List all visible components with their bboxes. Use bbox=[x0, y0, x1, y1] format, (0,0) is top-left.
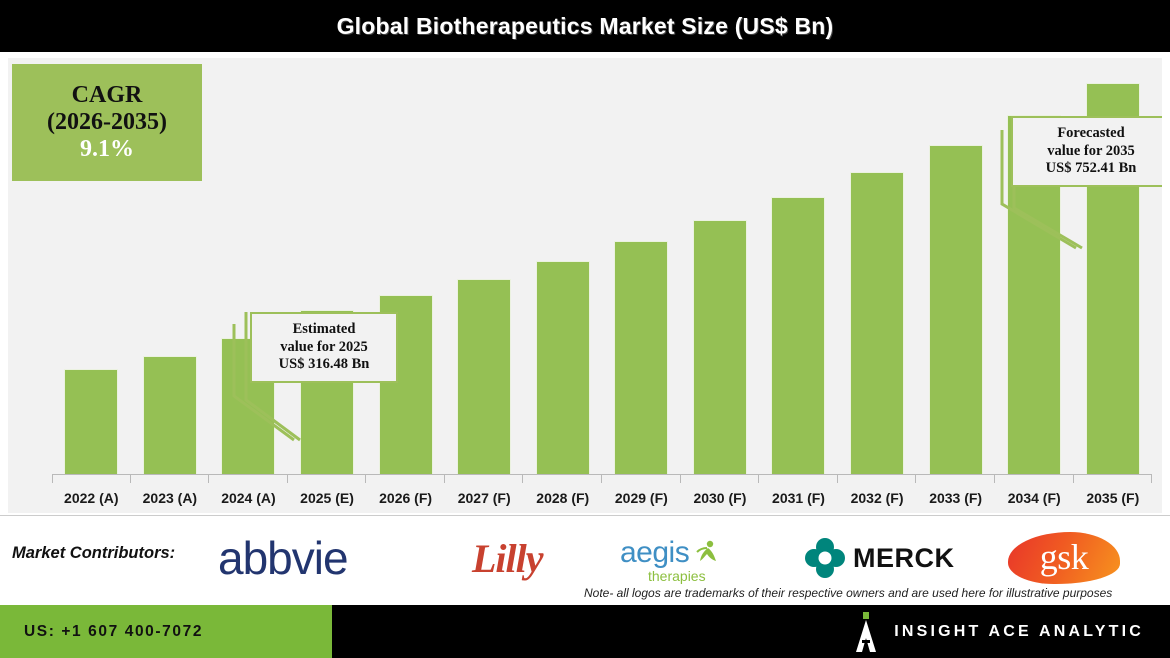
abbvie-logo-text: abbvie bbox=[218, 531, 348, 585]
x-axis-label: 2035 (F) bbox=[1074, 490, 1153, 506]
forecasted-value-callout: Forecasted value for 2035 US$ 752.41 Bn bbox=[1011, 116, 1162, 187]
estimated-callout-line1: Estimated bbox=[261, 321, 387, 339]
infographic-page: Global Biotherapeutics Market Size (US$ … bbox=[0, 0, 1170, 658]
x-axis-tick bbox=[288, 475, 367, 483]
bar-slot bbox=[838, 58, 917, 475]
x-axis-tick bbox=[916, 475, 995, 483]
cagr-period: (2026-2035) bbox=[47, 109, 167, 136]
bar[interactable] bbox=[929, 145, 983, 475]
cagr-label: CAGR bbox=[72, 82, 143, 109]
x-axis-label: 2024 (A) bbox=[209, 490, 288, 506]
brand-name: INSIGHT ACE ANALYTIC bbox=[894, 623, 1144, 641]
gsk-logo-wrap: gsk bbox=[1008, 532, 1120, 584]
x-axis-tick bbox=[602, 475, 681, 483]
bar-slot bbox=[602, 58, 681, 475]
market-contributors-label: Market Contributors: bbox=[12, 544, 175, 563]
x-axis-tick bbox=[681, 475, 760, 483]
x-axis-ticks bbox=[52, 475, 1152, 483]
estimated-callout-line3: US$ 316.48 Bn bbox=[261, 356, 387, 374]
bar[interactable] bbox=[64, 369, 118, 475]
footer-bar: US: +1 607 400-7072 INSIGHT ACE ANALYTIC bbox=[0, 605, 1170, 658]
x-axis-label: 2031 (F) bbox=[759, 490, 838, 506]
plot-area: CAGR (2026-2035) 9.1% Estimated value fo… bbox=[8, 58, 1162, 513]
forecasted-callout-line1: Forecasted bbox=[1022, 125, 1160, 143]
x-axis-tick bbox=[523, 475, 602, 483]
lilly-logo-text: Lilly bbox=[472, 535, 543, 582]
merck-clover-icon bbox=[805, 538, 845, 578]
x-axis-tick bbox=[52, 475, 131, 483]
x-axis-labels: 2022 (A)2023 (A)2024 (A)2025 (E)2026 (F)… bbox=[52, 485, 1152, 511]
bar-slot bbox=[366, 58, 445, 475]
bar[interactable] bbox=[536, 261, 590, 475]
x-axis-label: 2025 (E) bbox=[288, 490, 367, 506]
forecasted-callout-line3: US$ 752.41 Bn bbox=[1022, 160, 1160, 178]
footer-phone-block: US: +1 607 400-7072 bbox=[0, 605, 332, 658]
estimated-value-callout: Estimated value for 2025 US$ 316.48 Bn bbox=[250, 312, 398, 383]
gsk-logo-text: gsk bbox=[1008, 532, 1120, 584]
x-axis-tick bbox=[759, 475, 838, 483]
x-axis-label: 2033 (F) bbox=[916, 490, 995, 506]
bar-slot bbox=[681, 58, 760, 475]
x-axis-tick bbox=[131, 475, 210, 483]
x-axis-label: 2022 (A) bbox=[52, 490, 131, 506]
bar[interactable] bbox=[771, 197, 825, 475]
aegis-logo-top: aegis bbox=[620, 536, 720, 570]
bar[interactable] bbox=[143, 356, 197, 475]
market-contributors-strip: Market Contributors: abbvie Lilly aegis … bbox=[0, 515, 1170, 605]
x-axis-label: 2034 (F) bbox=[995, 490, 1074, 506]
aegis-person-icon bbox=[694, 539, 720, 567]
insight-ace-a-logo-icon bbox=[854, 612, 878, 652]
cagr-badge: CAGR (2026-2035) 9.1% bbox=[12, 64, 202, 181]
merck-logo: MERCK bbox=[805, 534, 955, 582]
x-axis-label: 2027 (F) bbox=[445, 490, 524, 506]
bar-slot bbox=[523, 58, 602, 475]
x-axis-tick bbox=[445, 475, 524, 483]
x-axis-tick bbox=[209, 475, 288, 483]
bar[interactable] bbox=[850, 172, 904, 475]
abbvie-logo: abbvie bbox=[218, 534, 348, 582]
x-axis-tick bbox=[838, 475, 917, 483]
x-axis-label: 2029 (F) bbox=[602, 490, 681, 506]
chart-panel: CAGR (2026-2035) 9.1% Estimated value fo… bbox=[0, 52, 1170, 515]
bar[interactable] bbox=[457, 279, 511, 476]
bar[interactable] bbox=[614, 241, 668, 475]
lilly-logo: Lilly bbox=[472, 534, 543, 582]
x-axis-label: 2030 (F) bbox=[681, 490, 760, 506]
trademark-note: Note- all logos are trademarks of their … bbox=[584, 586, 1112, 600]
footer-phone: US: +1 607 400-7072 bbox=[24, 623, 203, 641]
bar-slot bbox=[916, 58, 995, 475]
aegis-logo-text: aegis bbox=[620, 536, 689, 570]
cagr-value: 9.1% bbox=[80, 136, 134, 163]
x-axis-label: 2032 (F) bbox=[838, 490, 917, 506]
title-bar: Global Biotherapeutics Market Size (US$ … bbox=[0, 0, 1170, 52]
page-title: Global Biotherapeutics Market Size (US$ … bbox=[337, 13, 834, 40]
gsk-logo: gsk bbox=[1008, 534, 1120, 582]
bar-slot bbox=[445, 58, 524, 475]
x-axis-label: 2023 (A) bbox=[131, 490, 210, 506]
x-axis-label: 2026 (F) bbox=[366, 490, 445, 506]
estimated-callout-line2: value for 2025 bbox=[261, 339, 387, 357]
bar[interactable] bbox=[693, 220, 747, 475]
brand-block: INSIGHT ACE ANALYTIC bbox=[854, 605, 1144, 658]
x-axis-tick bbox=[995, 475, 1074, 483]
aegis-logo-subtext: therapies bbox=[648, 568, 706, 584]
bar-slot bbox=[759, 58, 838, 475]
x-axis-tick bbox=[366, 475, 445, 483]
x-axis-tick bbox=[1074, 475, 1153, 483]
x-axis-label: 2028 (F) bbox=[523, 490, 602, 506]
forecasted-callout-line2: value for 2035 bbox=[1022, 143, 1160, 161]
merck-logo-text: MERCK bbox=[853, 543, 955, 574]
aegis-therapies-logo: aegis therapies bbox=[620, 536, 720, 584]
